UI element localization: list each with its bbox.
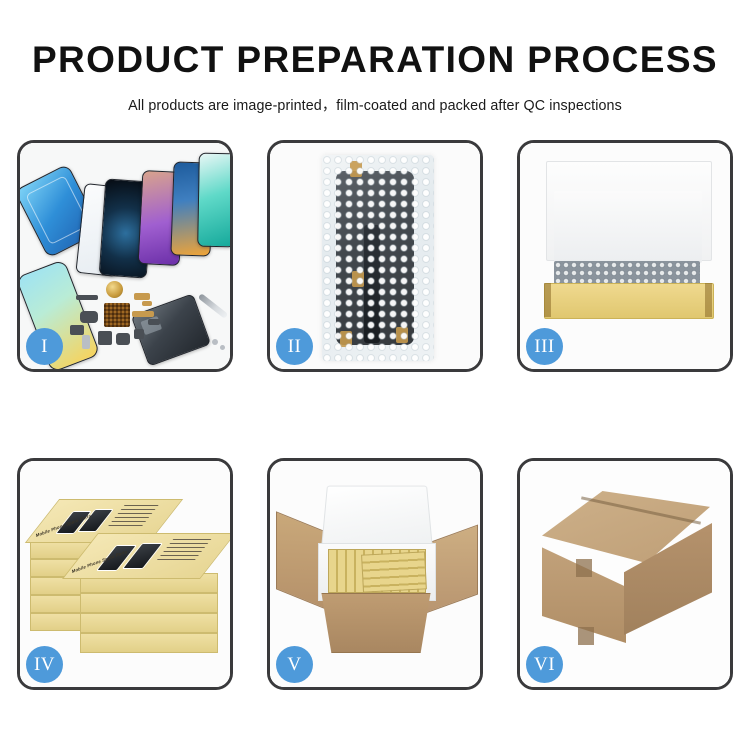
flex-cable-b: [132, 311, 154, 317]
screw-mesh-tray: [104, 303, 130, 327]
stacked-box-r2: [80, 593, 218, 613]
inner-boxes-row-b: [361, 551, 427, 592]
step-badge-2: II: [276, 328, 313, 365]
box-corner-left: [544, 283, 551, 317]
page-header: PRODUCT PREPARATION PROCESS All products…: [0, 40, 750, 115]
button-flex: [134, 329, 144, 339]
process-step-6: VI: [517, 458, 733, 690]
carton-tape-upper: [576, 559, 592, 577]
product-preparation-page: PRODUCT PREPARATION PROCESS All products…: [0, 0, 750, 750]
flex-cable-c: [148, 319, 160, 325]
screw-b: [220, 345, 225, 350]
bracket-b: [70, 325, 84, 335]
step-badge-6: VI: [526, 646, 563, 683]
sim-tray: [82, 335, 90, 349]
process-step-2: II: [267, 140, 483, 372]
carton-tape-lower: [578, 627, 594, 645]
process-step-5: V: [267, 458, 483, 690]
bubble-texture: [322, 155, 434, 361]
stacked-box-r4: [80, 633, 218, 653]
kraft-box-base: [544, 283, 714, 319]
process-step-4: Mobile Phone Spare Parts Mobile Phone Sp…: [17, 458, 233, 690]
carton-front-panel: [314, 593, 438, 653]
screw-a: [212, 339, 218, 345]
connector-gold-a: [134, 293, 150, 300]
camera-module: [98, 331, 112, 345]
bubble-wrap-bag: [322, 155, 434, 361]
process-step-grid: I II: [17, 140, 733, 690]
step-badge-5: V: [276, 646, 313, 683]
page-subtitle: All products are image-printed，film-coat…: [0, 94, 750, 115]
vibration-motor: [116, 333, 130, 345]
connector-gold-b: [142, 301, 152, 306]
flex-cable-a: [76, 295, 98, 300]
stacked-box-r3: [80, 613, 218, 633]
process-step-3: III: [517, 140, 733, 372]
step-badge-3: III: [526, 328, 563, 365]
process-step-1: I: [17, 140, 233, 372]
speaker-module: [106, 281, 123, 298]
step-badge-1: I: [26, 328, 63, 365]
page-title: PRODUCT PREPARATION PROCESS: [0, 40, 750, 81]
foam-sheet: [554, 191, 702, 263]
bracket-a: [80, 311, 98, 323]
box-corner-right: [705, 283, 712, 317]
step-badge-4: IV: [26, 646, 63, 683]
phone-display-teal: [197, 153, 230, 248]
